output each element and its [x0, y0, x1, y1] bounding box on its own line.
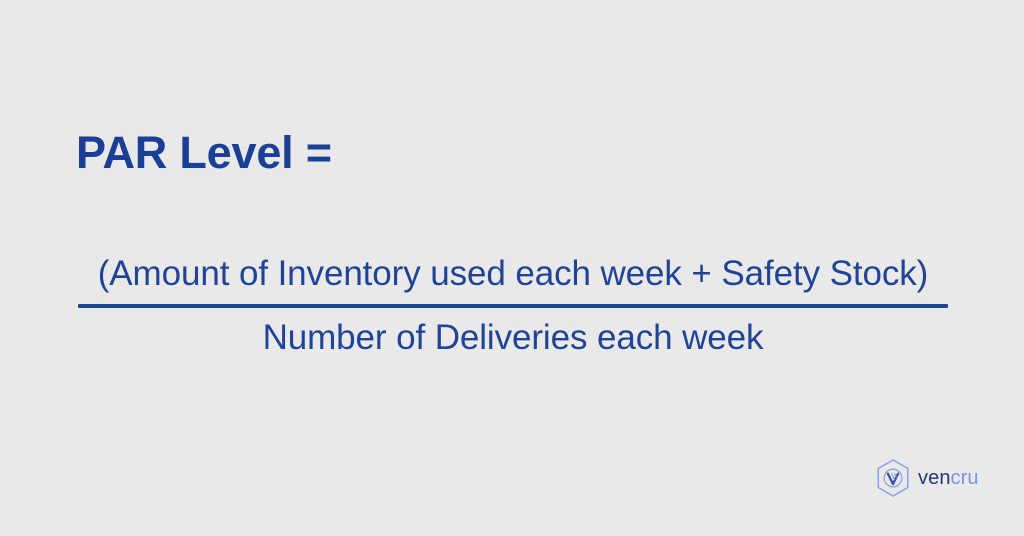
formula-fraction: (Amount of Inventory used each week + Sa… — [78, 252, 948, 361]
vencru-hexagon-v-logo-icon — [874, 458, 912, 498]
brand-wordmark: vencru — [918, 468, 979, 488]
fraction-numerator: (Amount of Inventory used each week + Sa… — [78, 252, 948, 297]
fraction-denominator: Number of Deliveries each week — [78, 316, 948, 361]
fraction-divider-bar — [78, 304, 948, 308]
brand-wordmark-cru: cru — [951, 467, 979, 489]
brand-wordmark-ven: ven — [918, 467, 951, 489]
brand-logo: vencru — [874, 458, 979, 498]
slide-canvas: PAR Level = (Amount of Inventory used ea… — [0, 0, 1024, 536]
page-title: PAR Level = — [76, 128, 332, 178]
